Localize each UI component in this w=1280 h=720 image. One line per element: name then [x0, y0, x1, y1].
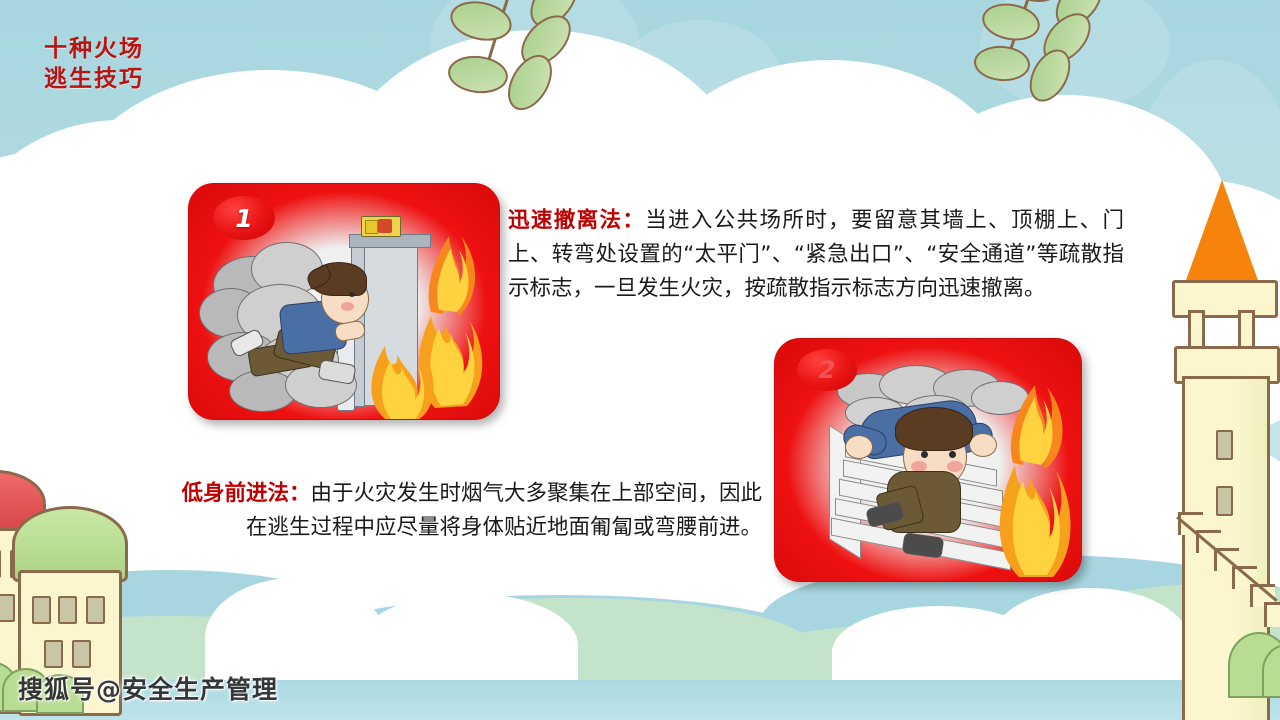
tip-2-illustration-card: 2	[774, 338, 1082, 582]
tip-2-heading: 低身前进法：	[181, 481, 310, 506]
flame-right	[983, 379, 1079, 579]
slide-canvas: 十种火场 逃生技巧	[0, 0, 1280, 720]
leaf-branch-center	[420, 0, 650, 130]
leaf-branch-right	[930, 0, 1170, 118]
tip-1-paragraph: 迅速撤离法：当进入公共场所时，要留意其墙上、顶棚上、门上、转弯处设置的“太平门”…	[508, 204, 1124, 306]
tower-roof	[1184, 180, 1260, 286]
tower-window-upper	[1216, 430, 1233, 460]
tower-window-lower	[1216, 486, 1233, 516]
tip-2-number-badge: 2	[797, 349, 857, 391]
tip-1-number-badge: 1	[213, 196, 275, 240]
lighthouse-tower	[1150, 180, 1280, 720]
tip-1-illustration-card: 1	[188, 183, 500, 420]
title-line-1: 十种火场	[44, 34, 144, 64]
flame-bottom	[357, 316, 447, 419]
tip-1-heading: 迅速撤离法：	[508, 208, 645, 233]
tip-2-paragraph: 低身前进法：由于火灾发生时烟气大多聚集在上部空间，因此在逃生过程中应尽量将身体贴…	[176, 477, 762, 545]
slide-title: 十种火场 逃生技巧	[44, 34, 144, 94]
emergency-exit-sign	[361, 216, 401, 237]
tip-2-body: 由于火灾发生时烟气大多聚集在上部空间，因此在逃生过程中应尽量将身体贴近地面匍匐或…	[246, 481, 762, 540]
title-line-2: 逃生技巧	[44, 64, 144, 94]
watermark-text: 搜狐号@安全生产管理	[18, 670, 278, 706]
